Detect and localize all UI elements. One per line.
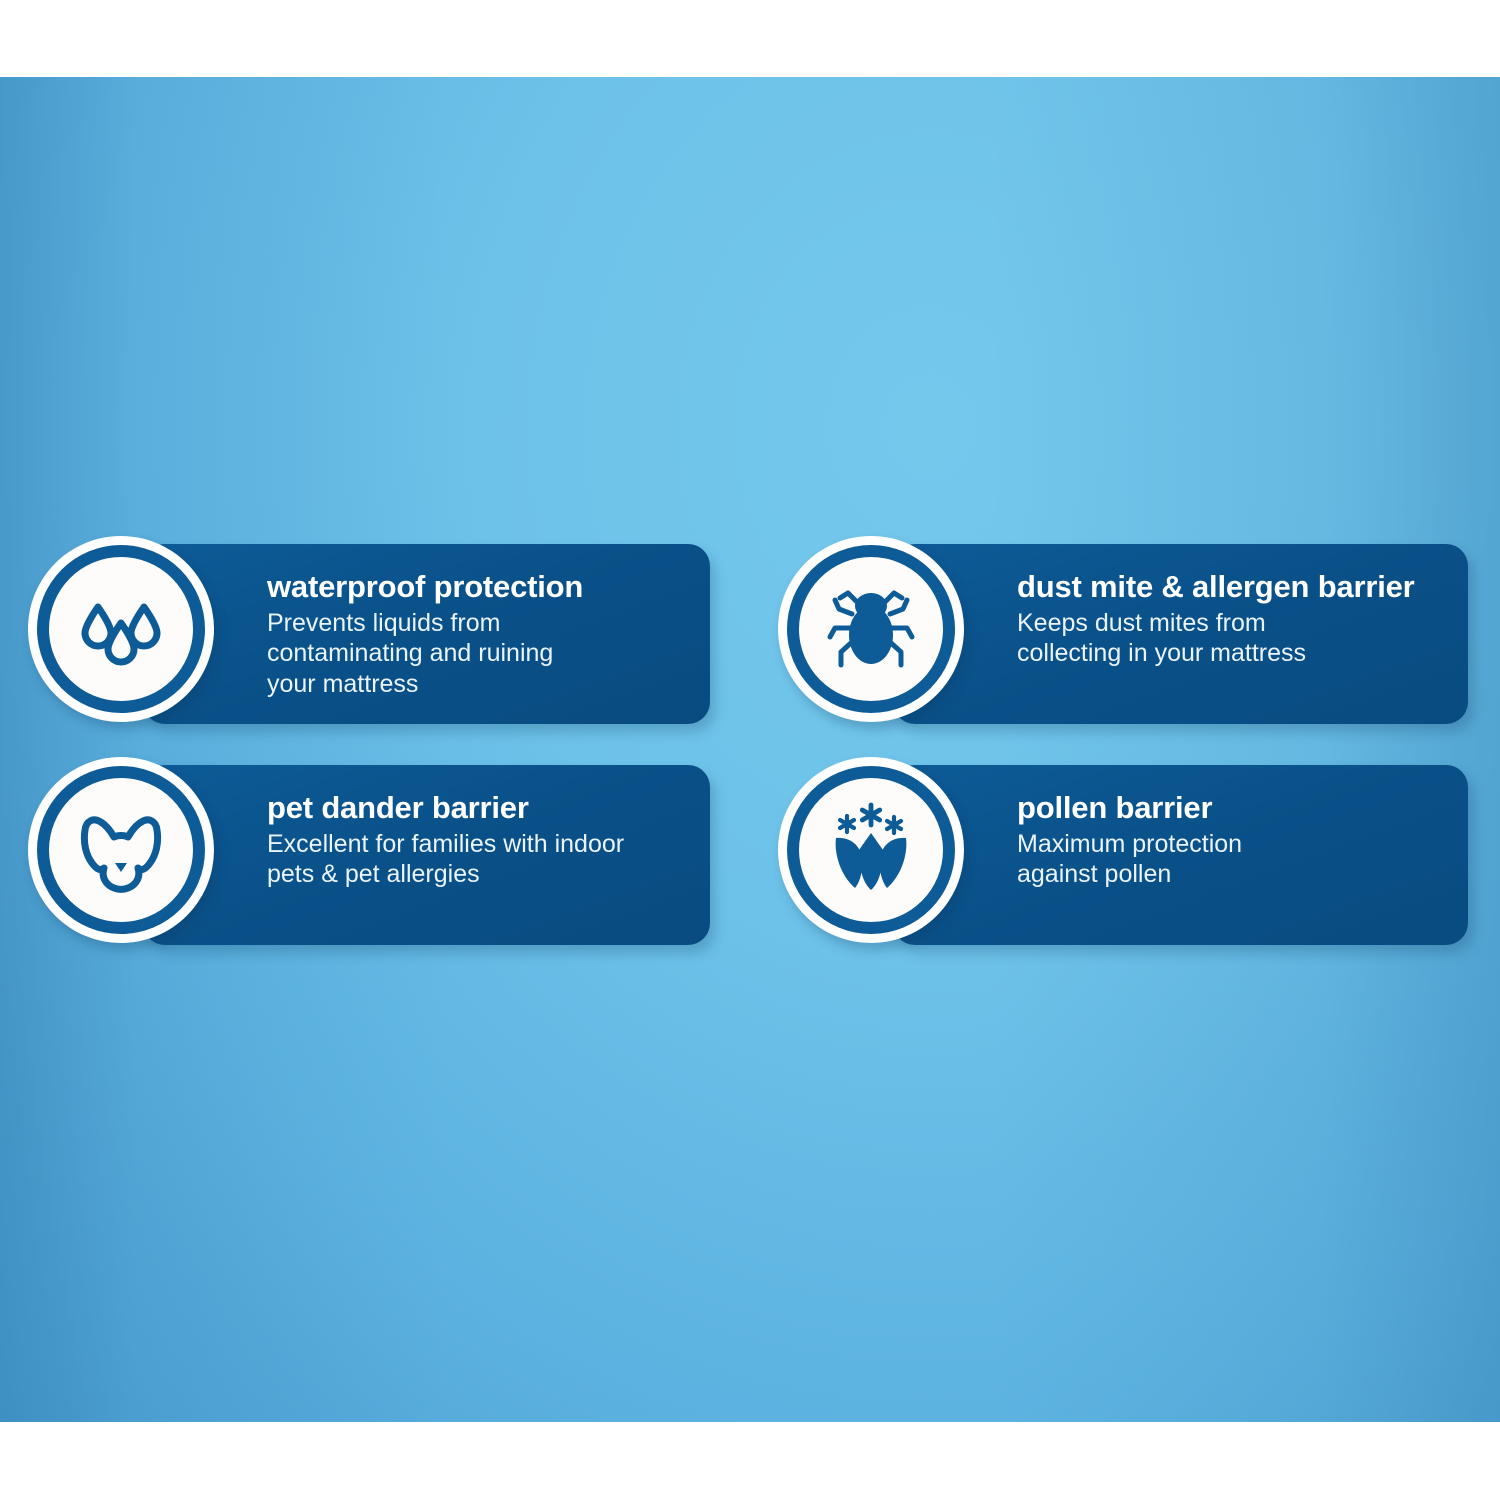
feature-title: dust mite & allergen barrier — [1017, 570, 1446, 605]
badge-disc — [49, 778, 193, 922]
feature-icon-badge — [28, 536, 214, 722]
feature-description: Prevents liquids from contaminating and … — [267, 608, 688, 700]
feature-icon-badge — [28, 757, 214, 943]
feature-text-block: dust mite & allergen barrier Keeps dust … — [1017, 570, 1446, 669]
feature-card-pet-dander-barrier[interactable]: pet dander barrier Excellent for familie… — [28, 757, 710, 953]
feature-plaque: pet dander barrier Excellent for familie… — [143, 765, 710, 945]
feature-plaque: pollen barrier Maximum protection agains… — [893, 765, 1468, 945]
feature-text-block: pet dander barrier Excellent for familie… — [267, 791, 688, 890]
feature-card-dust-mite-allergen-barrier[interactable]: dust mite & allergen barrier Keeps dust … — [778, 536, 1468, 732]
feature-description: Excellent for families with indoor pets … — [267, 829, 688, 890]
feature-description: Keeps dust mites from collecting in your… — [1017, 608, 1446, 669]
badge-disc — [799, 778, 943, 922]
feature-card-waterproof-protection[interactable]: waterproof protection Prevents liquids f… — [28, 536, 710, 732]
feature-card-pollen-barrier[interactable]: pollen barrier Maximum protection agains… — [778, 757, 1468, 953]
pollen-flower-icon — [816, 795, 926, 905]
feature-plaque: waterproof protection Prevents liquids f… — [143, 544, 710, 724]
feature-title: waterproof protection — [267, 570, 688, 605]
feature-plaque: dust mite & allergen barrier Keeps dust … — [893, 544, 1468, 724]
feature-graphic: waterproof protection Prevents liquids f… — [0, 0, 1500, 1500]
feature-title: pet dander barrier — [267, 791, 688, 826]
feature-title: pollen barrier — [1017, 791, 1446, 826]
feature-icon-badge — [778, 757, 964, 943]
badge-disc — [799, 557, 943, 701]
dog-head-icon — [68, 797, 174, 903]
water-drops-icon — [69, 577, 173, 681]
dust-mite-icon — [818, 576, 924, 682]
feature-icon-badge — [778, 536, 964, 722]
feature-grid: waterproof protection Prevents liquids f… — [0, 0, 1500, 1500]
feature-text-block: pollen barrier Maximum protection agains… — [1017, 791, 1446, 890]
feature-description: Maximum protection against pollen — [1017, 829, 1446, 890]
badge-disc — [49, 557, 193, 701]
pollen-specks-icon — [840, 805, 901, 833]
feature-text-block: waterproof protection Prevents liquids f… — [267, 570, 688, 699]
